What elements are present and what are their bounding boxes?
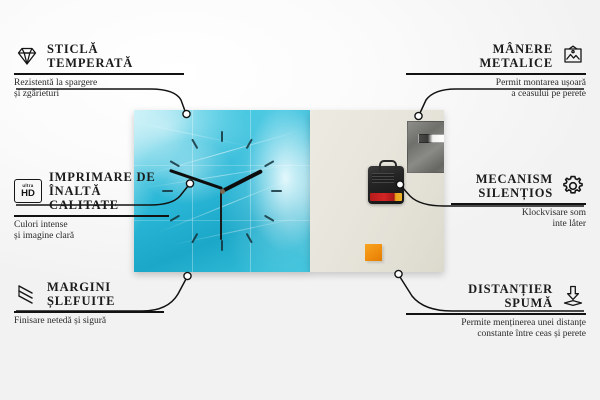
callout-header: MARGINI ȘLEFUITE (14, 280, 164, 308)
callout-subtitle: Klockvisare som inte låter (451, 208, 586, 231)
callout-silent-mechanism: MECANISM SILENȚIOS Klockvisare som inte … (451, 172, 586, 231)
callout-header: MÂNERE METALICE (406, 42, 586, 70)
ultra-hd-icon: ultra HD (14, 179, 42, 203)
callout-header: STICLĂ TEMPERATĂ (14, 42, 184, 70)
callout-title: MECANISM SILENȚIOS (476, 172, 553, 200)
movement-hang-loop (379, 160, 397, 171)
gear-icon (560, 174, 586, 198)
callout-title: STICLĂ TEMPERATĂ (47, 42, 133, 70)
ultra-hd-icon-main-text: HD (21, 189, 35, 199)
metal-hanger-plate (407, 121, 444, 173)
callout-divider (14, 311, 164, 313)
callout-header: DISTANȚIER SPUMĂ (406, 282, 586, 310)
callout-polished-edges: MARGINI ȘLEFUITE Finisare netedă și sigu… (14, 280, 164, 327)
callout-tempered-glass: STICLĂ TEMPERATĂ Rezistentă la spargere … (14, 42, 184, 101)
callout-high-quality-print: ultra HD IMPRIMARE DE ÎNALTĂ CALITATE Cu… (14, 170, 169, 243)
callout-divider (14, 215, 169, 217)
down-arrow-pad-icon (560, 284, 586, 308)
movement-label (372, 173, 394, 183)
callout-header: MECANISM SILENȚIOS (451, 172, 586, 200)
callout-metal-handles: MÂNERE METALICE Permit montarea ușoară a… (406, 42, 586, 101)
infographic-canvas: STICLĂ TEMPERATĂ Rezistentă la spargere … (0, 0, 600, 400)
quartz-clock-movement (368, 166, 404, 204)
clock-second-hand (221, 190, 223, 240)
callout-header: ultra HD IMPRIMARE DE ÎNALTĂ CALITATE (14, 170, 169, 212)
callout-subtitle: Finisare netedă și sigură (14, 316, 164, 328)
diamond-icon (14, 44, 40, 68)
callout-divider (406, 73, 586, 75)
foam-spacer-pad (365, 244, 382, 261)
picture-hanger-icon (560, 44, 586, 68)
clock-center-cap (220, 189, 225, 194)
callout-title: IMPRIMARE DE ÎNALTĂ CALITATE (49, 170, 169, 212)
aa-battery (370, 193, 402, 201)
callout-title: DISTANȚIER SPUMĂ (468, 282, 553, 310)
callout-subtitle: Permite menținerea unei distanțe constan… (406, 318, 586, 341)
callout-divider (406, 313, 586, 315)
callout-subtitle: Rezistentă la spargere și zgârieturi (14, 78, 184, 101)
callout-subtitle: Culori intense și imagine clară (14, 220, 169, 243)
hanger-keyhole-slot (418, 134, 444, 143)
callout-divider (451, 203, 586, 205)
callout-title: MÂNERE METALICE (479, 42, 553, 70)
callout-foam-spacer: DISTANȚIER SPUMĂ Permite menținerea unei… (406, 282, 586, 341)
glass-wall-clock-back (310, 110, 444, 272)
callout-divider (14, 73, 184, 75)
polished-edges-icon (14, 282, 40, 306)
callout-title: MARGINI ȘLEFUITE (47, 280, 115, 308)
callout-subtitle: Permit montarea ușoară a ceasului pe per… (406, 78, 586, 101)
